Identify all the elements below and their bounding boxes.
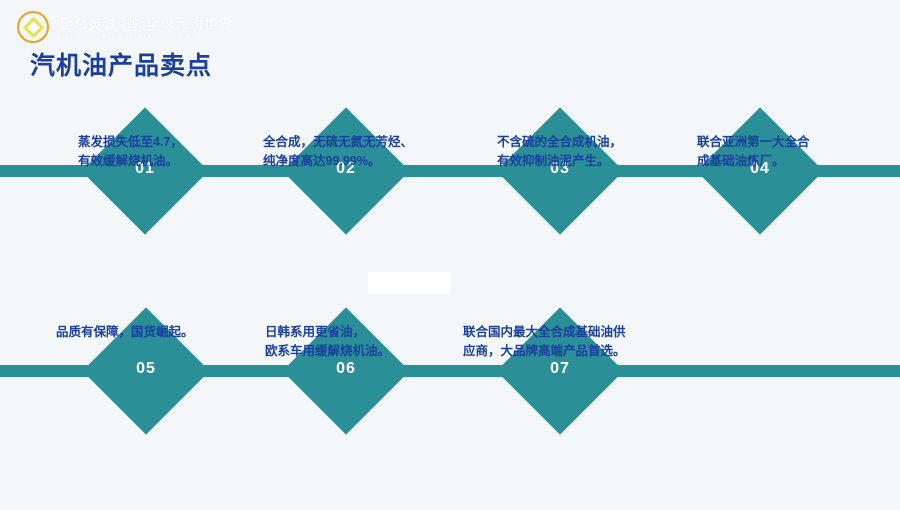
caption-07: 联合国内最大全合成基础油供 应商，大品牌高端产品首选。 [463,323,703,361]
node-03[interactable]: 03 [499,110,621,232]
brand-logo-text: 昆仑奥诚引领全球润滑世界 Kunlun Aocheng leads the gl… [59,16,233,40]
blank-patch [368,272,450,294]
brand-name-cn: 昆仑奥诚引领全球润滑世界 [59,16,233,32]
brand-name-en: Kunlun Aocheng leads the global lubricat… [59,32,233,40]
diamond-star-logo-icon [16,10,52,46]
caption-05: 品质有保障，国货崛起。 [56,323,256,342]
node-04[interactable]: 04 [699,110,821,232]
caption-04: 联合亚洲第一大全合 成基础油炼厂。 [697,133,857,171]
node-01[interactable]: 01 [84,110,206,232]
node-02[interactable]: 02 [285,110,407,232]
page-title: 汽机油产品卖点 [30,46,212,82]
caption-03: 不含硫的全合成机油， 有效抑制油泥产生。 [497,133,672,171]
slide: 昆仑奥诚引领全球润滑世界 Kunlun Aocheng leads the gl… [0,0,900,510]
node-number: 06 [285,360,407,378]
caption-02: 全合成，无硫无氮无芳烃、 纯净度高达99.99%。 [263,133,443,171]
node-number: 07 [499,360,621,378]
caption-01: 蒸发损失低至4.7， 有效缓解烧机油。 [78,133,248,171]
caption-06: 日韩系用更省油， 欧系车用缓解烧机油。 [265,323,450,361]
node-number: 05 [85,360,207,378]
brand-logo: 昆仑奥诚引领全球润滑世界 Kunlun Aocheng leads the gl… [16,8,233,48]
